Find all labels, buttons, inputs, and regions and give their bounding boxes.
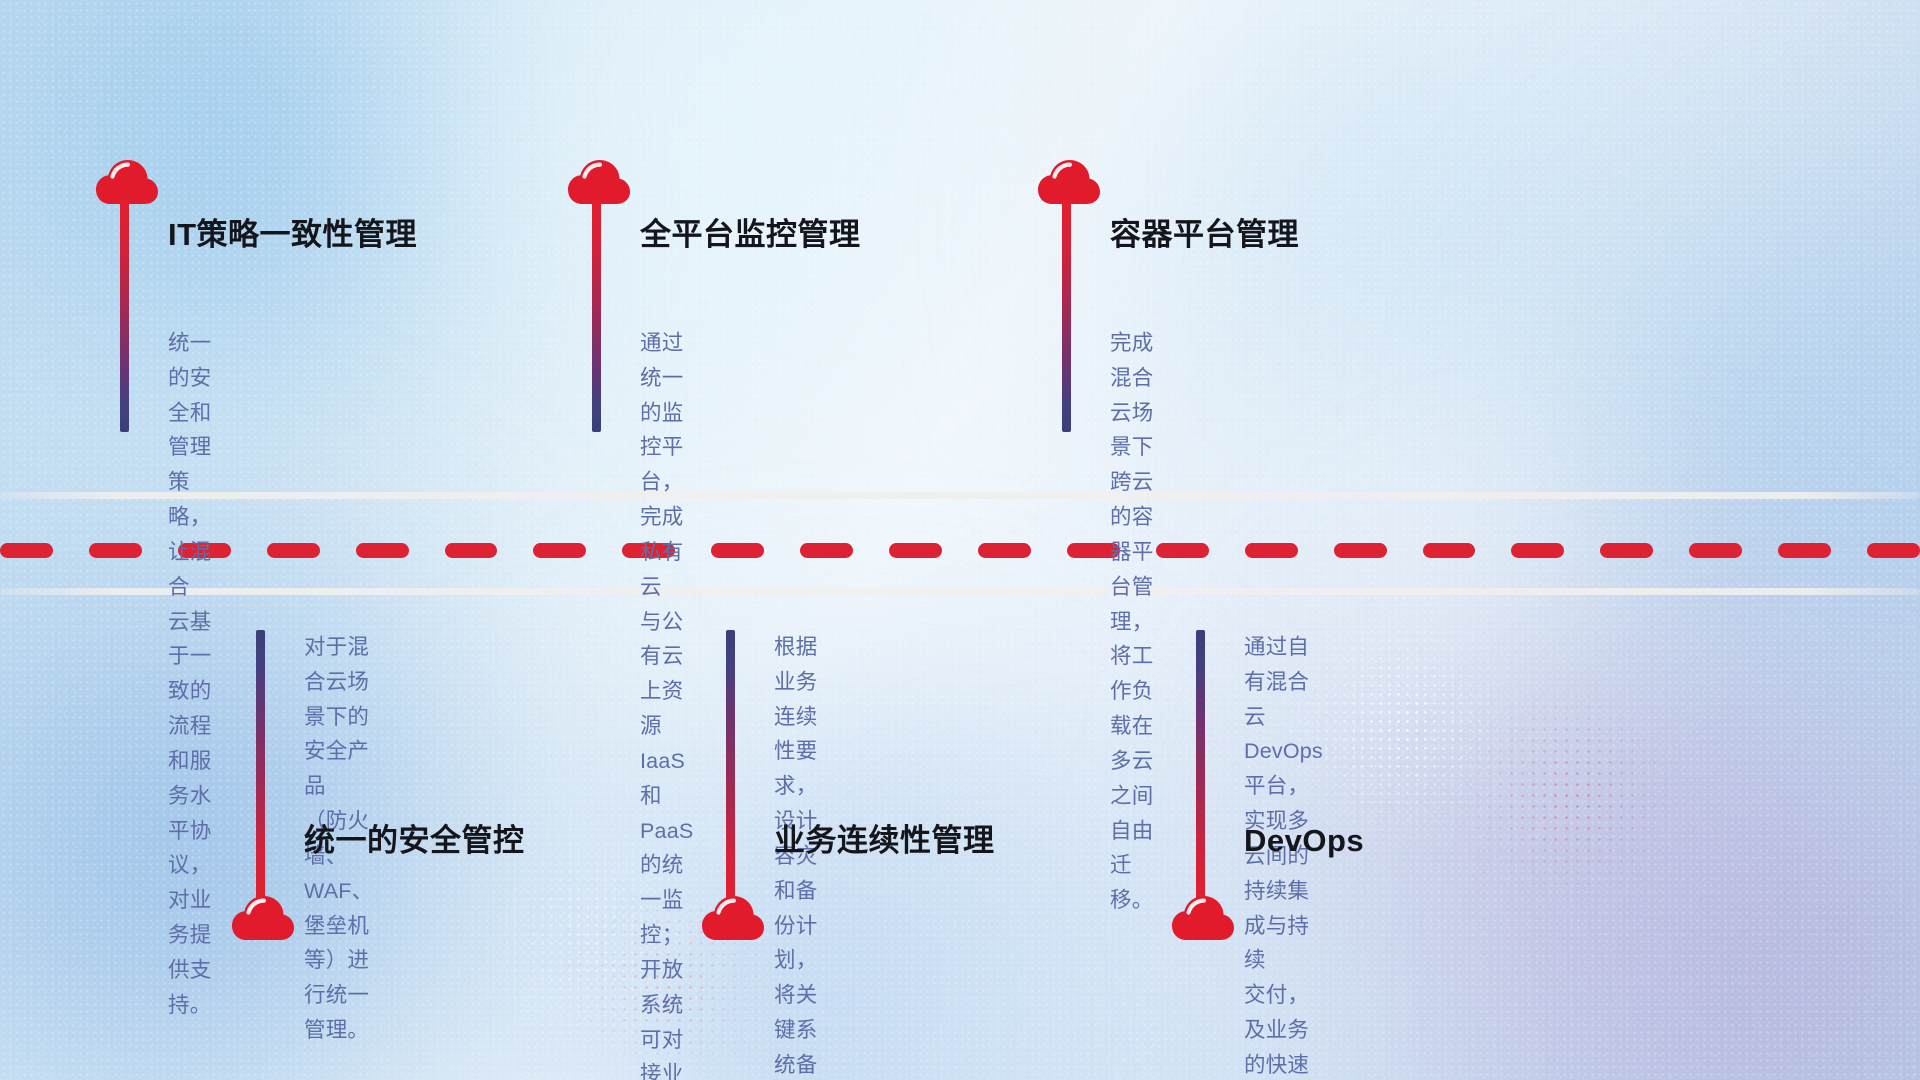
divider-dash xyxy=(0,543,53,558)
connector-stem xyxy=(120,200,129,432)
connector-stem xyxy=(726,630,735,908)
divider-dash xyxy=(1600,543,1653,558)
divider-dash xyxy=(89,543,142,558)
divider-dash xyxy=(1423,543,1476,558)
divider-dash xyxy=(1334,543,1387,558)
cloud-pin-icon xyxy=(232,896,294,942)
feature-heading: 统一的安全管控 xyxy=(304,822,525,859)
feature-heading: 全平台监控管理 xyxy=(640,216,861,253)
divider-dash xyxy=(445,543,498,558)
divider-dash xyxy=(978,543,1031,558)
cloud-pin-icon xyxy=(1172,896,1234,942)
feature-description: 完成混合云场景下跨云的容器平 台管理，将工作负载在多云之间 自由迁移。 xyxy=(1110,326,1153,918)
feature-heading: IT策略一致性管理 xyxy=(168,216,417,253)
connector-stem xyxy=(1196,630,1205,908)
divider-dash xyxy=(1867,543,1920,558)
divider-dash xyxy=(1778,543,1831,558)
divider-dash xyxy=(1156,543,1209,558)
divider-dash xyxy=(1511,543,1564,558)
feature-heading: 业务连续性管理 xyxy=(774,822,995,859)
background-dot-cluster-red xyxy=(1440,680,1700,910)
cloud-pin-icon xyxy=(702,896,764,942)
feature-description: 通过统一的监控平台，完成私有云 与公有云上资源IaaS和PaaS的统 一监控；开… xyxy=(640,326,693,1080)
divider-dashed-line xyxy=(0,543,1920,558)
divider-dash xyxy=(889,543,942,558)
divider-dash xyxy=(1689,543,1742,558)
connector-stem xyxy=(256,630,265,908)
divider-dash xyxy=(711,543,764,558)
feature-heading: DevOps xyxy=(1244,822,1364,859)
divider-rule-bottom xyxy=(0,588,1920,595)
divider-rule-top xyxy=(0,492,1920,499)
divider-dash xyxy=(356,543,409,558)
feature-heading: 容器平台管理 xyxy=(1110,216,1299,253)
connector-stem xyxy=(592,200,601,432)
connector-stem xyxy=(1062,200,1071,432)
divider-dash xyxy=(267,543,320,558)
feature-description: 统一的安全和管理策略，让混合 云基于一致的流程和服务水平协 议，对业务提供支持。 xyxy=(168,326,211,1023)
divider-dash xyxy=(800,543,853,558)
divider-dash xyxy=(533,543,586,558)
divider-dash xyxy=(1245,543,1298,558)
